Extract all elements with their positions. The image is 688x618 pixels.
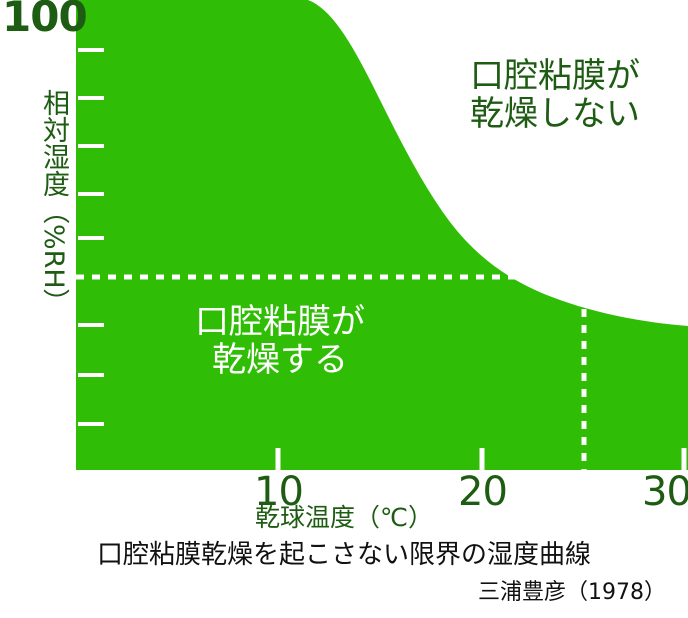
humidity-curve-figure: 100 相対湿度（%RH） 口腔粘膜が 乾燥しない 口腔粘膜が 乾燥する 10 …	[0, 0, 688, 618]
figure-caption: 口腔粘膜乾燥を起こさない限界の湿度曲線	[0, 541, 688, 570]
y-axis-title: 相対湿度（%RH）	[10, 52, 68, 352]
inside-region-label: 口腔粘膜が 乾燥する	[140, 303, 420, 379]
x-axis-title: 乾球温度（℃）	[0, 505, 688, 530]
figure-credit: 三浦豊彦（1978）	[478, 581, 666, 605]
outside-region-label: 口腔粘膜が 乾燥しない	[430, 57, 680, 133]
plot-area: 100 相対湿度（%RH） 口腔粘膜が 乾燥しない 口腔粘膜が 乾燥する	[0, 0, 688, 472]
y-axis-max-label: 100	[2, 0, 87, 38]
